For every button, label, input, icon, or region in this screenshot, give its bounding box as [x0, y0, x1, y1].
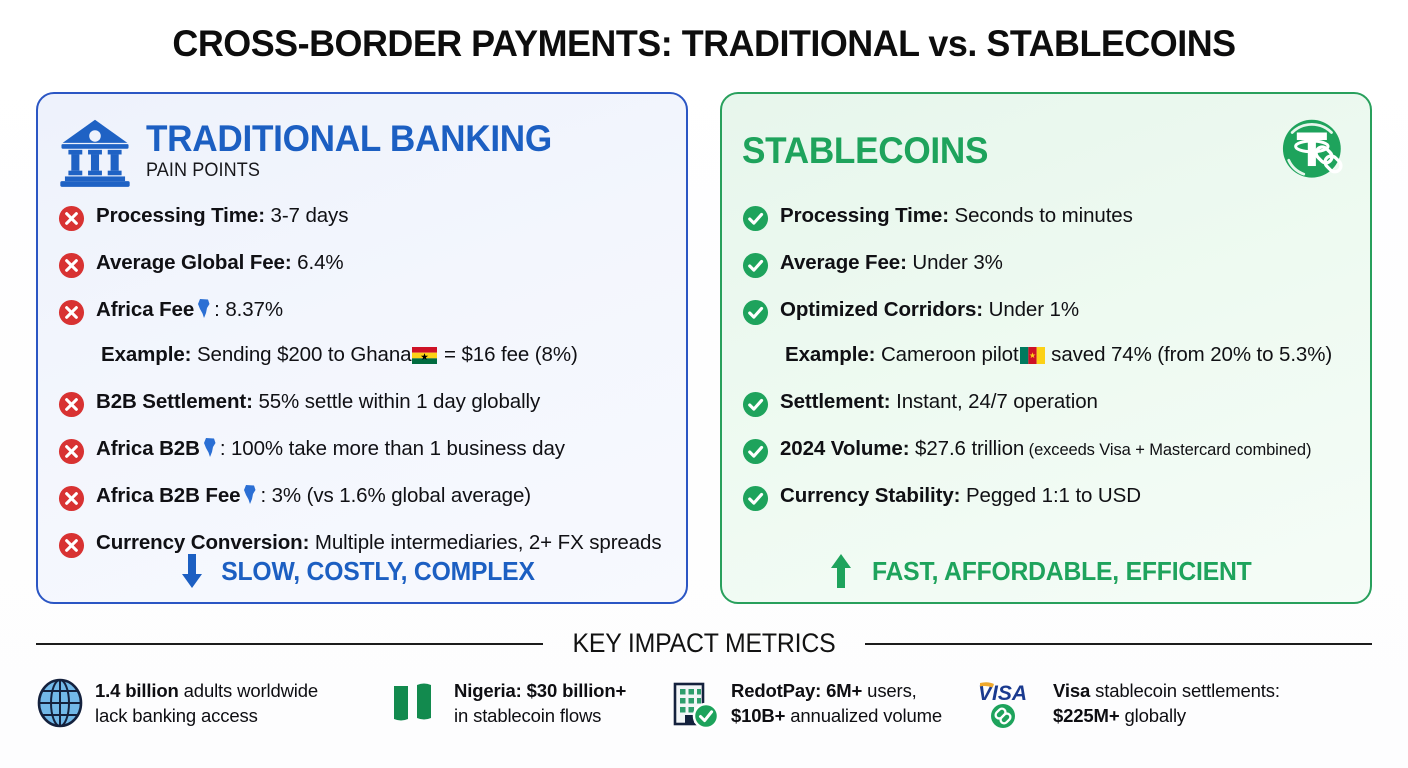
- list-item-value: : 100% take more than 1 business day: [220, 437, 565, 460]
- list-item-label: Example:: [101, 343, 191, 366]
- list-item-value: Multiple intermediaries, 2+ FX spreads: [309, 531, 661, 554]
- traditional-banking-header: TRADITIONAL BANKING PAIN POINTS: [58, 108, 666, 194]
- list-item: 2024 Volume: $27.6 trillion (exceeds Vis…: [742, 433, 1350, 480]
- key-impact-metrics-heading: KEY IMPACT METRICS: [36, 628, 1372, 659]
- list-item-label: B2B Settlement:: [96, 390, 253, 413]
- x-circle-icon: [58, 391, 85, 418]
- cameroon-flag: [1020, 347, 1045, 364]
- list-item-text: Currency Conversion: Multiple intermedia…: [96, 529, 661, 556]
- list-item: Average Fee: Under 3%: [742, 247, 1350, 294]
- metric-text: Nigeria: $30 billion+in stablecoin flows: [454, 678, 626, 728]
- bank-icon: [58, 114, 132, 188]
- traditional-banking-panel: TRADITIONAL BANKING PAIN POINTS Processi…: [36, 92, 688, 604]
- check-circle-icon: [742, 438, 769, 465]
- list-item-text: Average Fee: Under 3%: [780, 249, 1003, 276]
- list-item-text: B2B Settlement: 55% settle within 1 day …: [96, 388, 540, 415]
- list-item-label: Africa B2B: [96, 437, 200, 460]
- metric-rest: stablecoin settlements:: [1090, 680, 1280, 701]
- list-item-label: Africa Fee: [96, 298, 194, 321]
- list-item: Processing Time: Seconds to minutes: [742, 200, 1350, 247]
- list-item: Currency Stability: Pegged 1:1 to USD: [742, 480, 1350, 527]
- list-item-text: Africa B2B: 100% take more than 1 busine…: [96, 435, 565, 462]
- traditional-banking-list: Processing Time: 3-7 days Average Global…: [58, 200, 666, 574]
- metric-text: RedotPay: 6M+ users,$10B+ annualized vol…: [731, 678, 942, 728]
- list-item-text: Processing Time: Seconds to minutes: [780, 202, 1133, 229]
- comparison-panels: TRADITIONAL BANKING PAIN POINTS Processi…: [0, 92, 1408, 604]
- page-title: CROSS-BORDER PAYMENTS: TRADITIONAL vs. S…: [21, 0, 1387, 65]
- traditional-banking-titles: TRADITIONAL BANKING PAIN POINTS: [146, 120, 573, 183]
- list-item-value: : 8.37%: [214, 298, 283, 321]
- africa-icon: [201, 437, 219, 458]
- list-item-text: Optimized Corridors: Under 1%: [780, 296, 1079, 323]
- visa-link-icon: VISA: [976, 678, 1042, 730]
- infographic-page: CROSS-BORDER PAYMENTS: TRADITIONAL vs. S…: [0, 0, 1408, 768]
- list-item-text: Example: Sending $200 to Ghana = $16 fee…: [101, 341, 578, 368]
- list-item-value: Seconds to minutes: [949, 204, 1133, 227]
- x-circle-icon: [58, 299, 85, 326]
- list-item-text: Average Global Fee: 6.4%: [96, 249, 344, 276]
- divider-left: [36, 643, 543, 645]
- stablecoins-header: STABLECOINS: [742, 108, 1350, 194]
- key-impact-metrics-row: 1.4 billion adults worldwidelack banking…: [36, 678, 1384, 730]
- traditional-banking-footer: SLOW, COSTLY, COMPLEX: [38, 554, 686, 588]
- metric-line2-bold: $225M+: [1053, 705, 1119, 726]
- list-item-text: 2024 Volume: $27.6 trillion (exceeds Vis…: [780, 435, 1311, 462]
- list-item-label: Processing Time:: [780, 204, 949, 227]
- arrow-down-icon: [181, 554, 203, 588]
- list-item-value: Instant, 24/7 operation: [891, 390, 1098, 413]
- stablecoins-footer: FAST, AFFORDABLE, EFFICIENT: [722, 554, 1370, 588]
- building-check-icon: [668, 678, 720, 730]
- stablecoins-panel: STABLECOINS: [720, 92, 1372, 604]
- list-item-label: Settlement:: [780, 390, 891, 413]
- list-item-value-2: saved 74% (from 20% to 5.3%): [1046, 343, 1333, 366]
- check-circle-icon: [742, 252, 769, 279]
- key-impact-metrics-title: KEY IMPACT METRICS: [572, 628, 835, 659]
- list-item-text: Currency Stability: Pegged 1:1 to USD: [780, 482, 1141, 509]
- list-item-label: Africa B2B Fee: [96, 484, 240, 507]
- metric-item-visa: VISA Visa stablecoin settlements:$225M+ …: [976, 678, 1280, 730]
- list-item: Optimized Corridors: Under 1%: [742, 294, 1350, 341]
- stablecoins-titles: STABLECOINS: [742, 132, 1001, 170]
- list-item-label: Processing Time:: [96, 204, 265, 227]
- list-item-label: Average Fee:: [780, 251, 907, 274]
- list-item-value: Under 3%: [907, 251, 1003, 274]
- stablecoins-list: Processing Time: Seconds to minutes Aver…: [742, 200, 1350, 527]
- list-item-value: : 3% (vs 1.6% global average): [260, 484, 531, 507]
- list-item-text: Processing Time: 3-7 days: [96, 202, 348, 229]
- list-item-value: $27.6 trillion: [909, 437, 1024, 460]
- list-item: Africa B2B Fee: 3% (vs 1.6% global avera…: [58, 480, 666, 527]
- metric-bold: Nigeria: $30 billion+: [454, 680, 626, 701]
- list-item-value: Under 1%: [983, 298, 1079, 321]
- x-circle-icon: [58, 438, 85, 465]
- check-circle-icon: [742, 485, 769, 512]
- list-item-text: Settlement: Instant, 24/7 operation: [780, 388, 1098, 415]
- list-item-value: Cameroon pilot: [875, 343, 1018, 366]
- metric-item-nigeria: Nigeria: $30 billion+in stablecoin flows: [388, 678, 668, 728]
- list-item-label: Currency Stability:: [780, 484, 960, 507]
- traditional-banking-subtitle: PAIN POINTS: [146, 160, 552, 182]
- metric-line2: annualized volume: [785, 705, 942, 726]
- check-circle-icon: [742, 391, 769, 418]
- metric-text: 1.4 billion adults worldwidelack banking…: [95, 678, 318, 728]
- metric-line2: in stablecoin flows: [454, 705, 601, 726]
- metric-text: Visa stablecoin settlements:$225M+ globa…: [1053, 678, 1280, 728]
- list-item: Africa Fee: 8.37%: [58, 294, 666, 341]
- metric-item-redotpay: RedotPay: 6M+ users,$10B+ annualized vol…: [668, 678, 976, 730]
- metric-rest: users,: [862, 680, 916, 701]
- africa-icon: [195, 298, 213, 319]
- nigeria-flag-icon: [388, 678, 443, 726]
- list-item-label: Currency Conversion:: [96, 531, 309, 554]
- stablecoins-title: STABLECOINS: [742, 132, 988, 170]
- check-circle-icon: [742, 299, 769, 326]
- arrow-up-icon: [830, 554, 852, 588]
- list-item-example: Example: Cameroon pilot saved 74% (from …: [742, 341, 1350, 386]
- stablecoins-footer-text: FAST, AFFORDABLE, EFFICIENT: [872, 556, 1252, 587]
- list-item-value: 6.4%: [292, 251, 344, 274]
- traditional-banking-title: TRADITIONAL BANKING: [146, 120, 552, 158]
- globe-icon: [36, 678, 84, 728]
- x-circle-icon: [58, 205, 85, 232]
- list-item-text: Example: Cameroon pilot saved 74% (from …: [785, 341, 1332, 368]
- x-circle-icon: [58, 252, 85, 279]
- metric-line2-bold-actual: $10B+: [731, 705, 785, 726]
- list-item-label: Average Global Fee:: [96, 251, 292, 274]
- tether-logo-wrap: [1276, 114, 1350, 188]
- divider-right: [865, 643, 1372, 645]
- tether-link-icon: [1276, 114, 1350, 188]
- list-item-value: 3-7 days: [265, 204, 348, 227]
- list-item: Africa B2B: 100% take more than 1 busine…: [58, 433, 666, 480]
- metric-line2: globally: [1119, 705, 1186, 726]
- metric-item-banking-access: 1.4 billion adults worldwidelack banking…: [36, 678, 388, 728]
- metric-bold: 1.4 billion: [95, 680, 179, 701]
- list-item-label: 2024 Volume:: [780, 437, 909, 460]
- list-item: Processing Time: 3-7 days: [58, 200, 666, 247]
- list-item-value-2: = $16 fee (8%): [438, 343, 577, 366]
- ghana-flag: [412, 347, 437, 364]
- list-item-text: Africa B2B Fee: 3% (vs 1.6% global avera…: [96, 482, 531, 509]
- metric-line2: lack banking access: [95, 705, 258, 726]
- list-item: Settlement: Instant, 24/7 operation: [742, 386, 1350, 433]
- list-item-value: 55% settle within 1 day globally: [253, 390, 540, 413]
- x-circle-icon: [58, 485, 85, 512]
- list-item-label: Example:: [785, 343, 875, 366]
- list-item-value: Pegged 1:1 to USD: [960, 484, 1141, 507]
- list-item: Average Global Fee: 6.4%: [58, 247, 666, 294]
- traditional-banking-footer-text: SLOW, COSTLY, COMPLEX: [221, 556, 535, 587]
- list-item-example: Example: Sending $200 to Ghana = $16 fee…: [58, 341, 666, 386]
- metric-bold: Visa: [1053, 680, 1090, 701]
- list-item-label: Optimized Corridors:: [780, 298, 983, 321]
- metric-bold: RedotPay: 6M+: [731, 680, 862, 701]
- check-circle-icon: [742, 205, 769, 232]
- list-item: B2B Settlement: 55% settle within 1 day …: [58, 386, 666, 433]
- metric-rest: adults worldwide: [179, 680, 318, 701]
- list-item-value: Sending $200 to Ghana: [191, 343, 411, 366]
- africa-icon: [241, 484, 259, 505]
- list-item-text: Africa Fee: 8.37%: [96, 296, 283, 323]
- list-item-note: (exceeds Visa + Mastercard combined): [1024, 441, 1311, 459]
